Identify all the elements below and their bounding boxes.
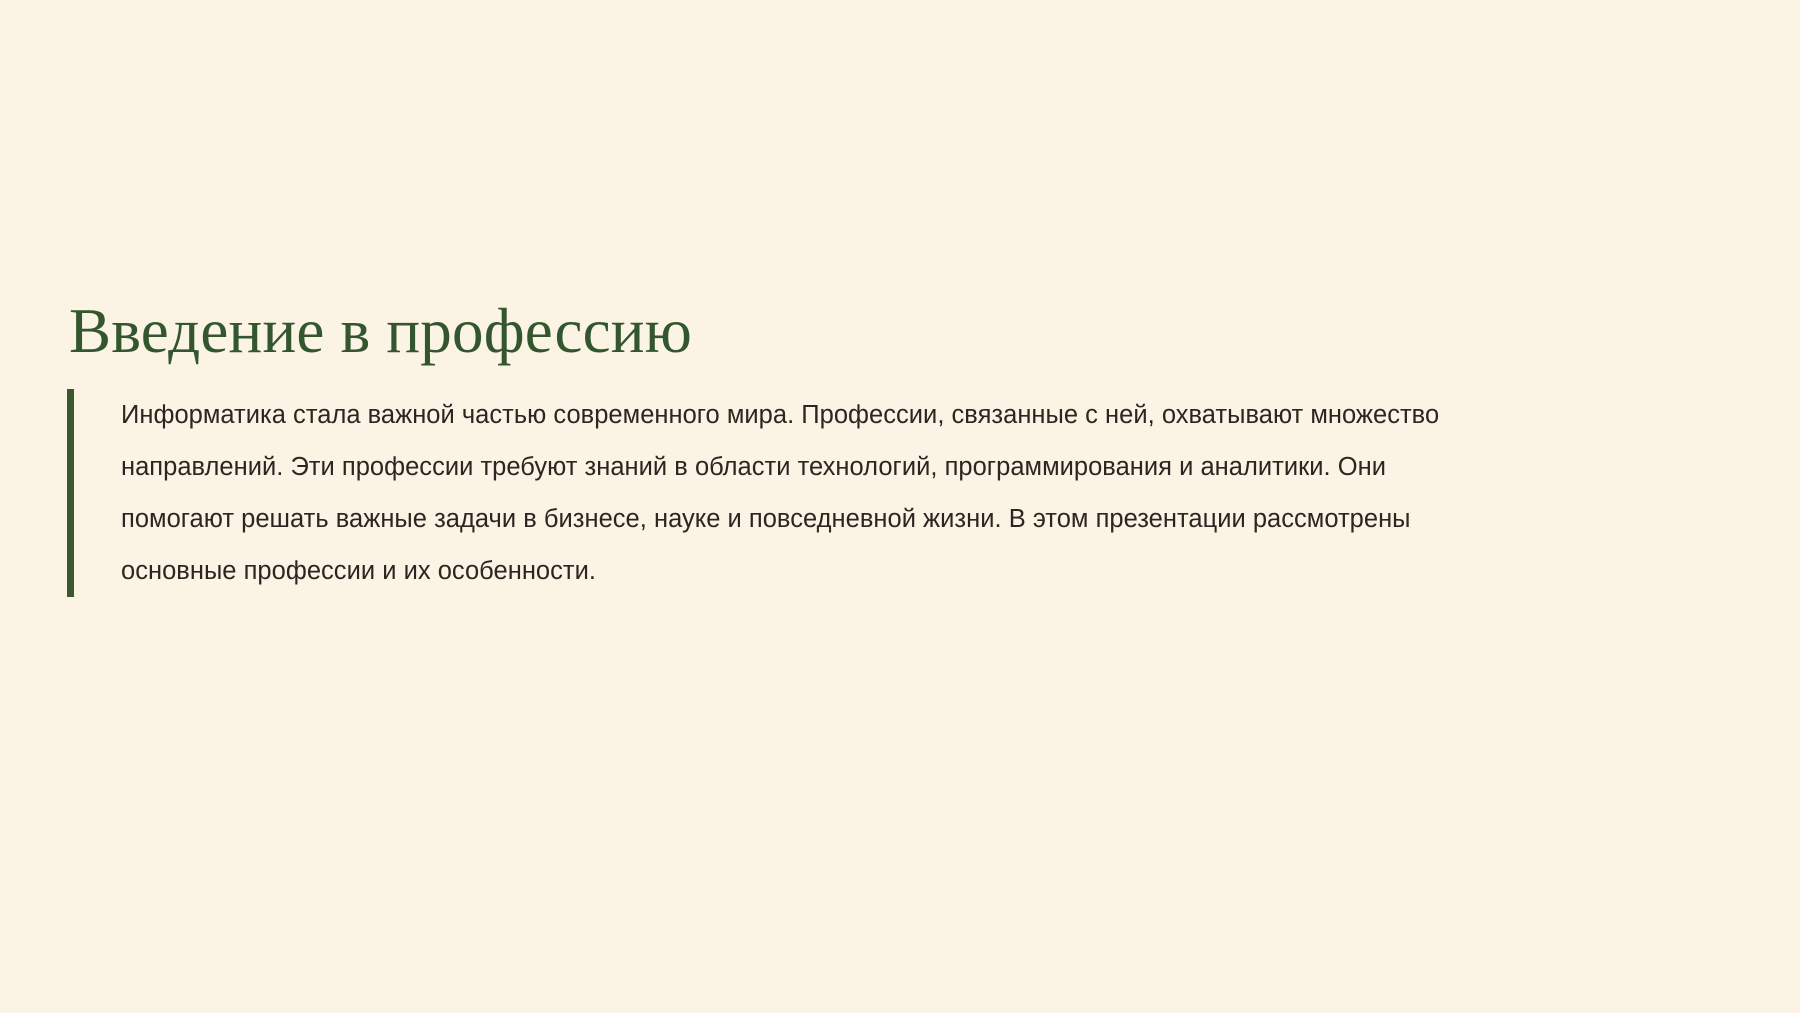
slide-content: Введение в профессию Информатика стала в…: [67, 296, 1487, 597]
intro-callout: Информатика стала важной частью современ…: [67, 389, 1487, 597]
accent-bar: [67, 389, 74, 597]
intro-paragraph: Информатика стала важной частью современ…: [74, 389, 1487, 597]
page-title: Введение в профессию: [69, 296, 1487, 367]
presentation-slide: Введение в профессию Информатика стала в…: [0, 0, 1800, 1013]
